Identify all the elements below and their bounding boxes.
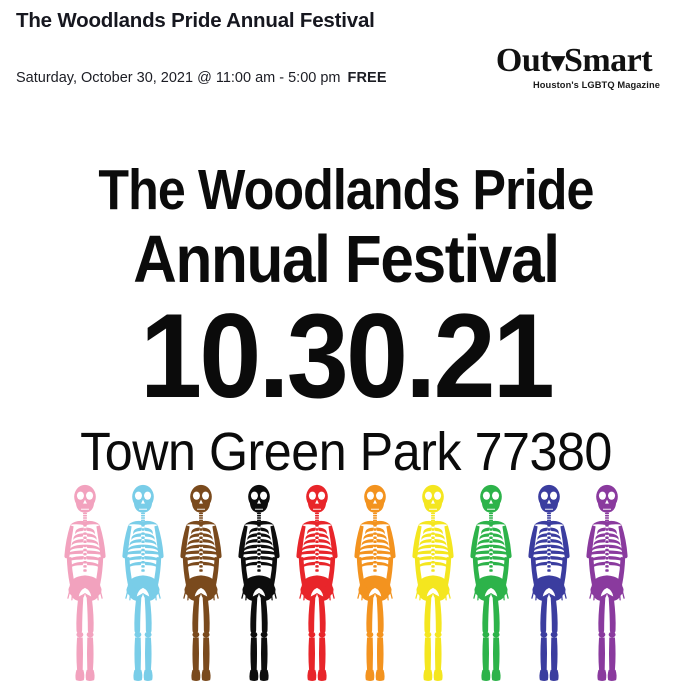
event-header: The Woodlands Pride Annual Festival Satu… xyxy=(0,0,692,100)
skeleton-orange xyxy=(346,482,404,687)
poster-line-date: 10.30.21 xyxy=(24,296,668,416)
outsmart-logo[interactable]: Out▼Smart Houston's LGBTQ Magazine xyxy=(486,44,662,90)
event-listing-page: The Woodlands Pride Annual Festival Satu… xyxy=(0,0,692,696)
skeleton-row xyxy=(0,482,692,696)
skeleton-light-blue xyxy=(114,482,172,687)
skeleton-blue xyxy=(520,482,578,687)
skeleton-green xyxy=(462,482,520,687)
logo-word-smart: Smart xyxy=(564,42,652,79)
event-meta-line: Saturday, October 30, 2021 @ 11:00 am - … xyxy=(16,70,387,86)
event-price-badge: FREE xyxy=(348,70,387,86)
skeleton-pink xyxy=(56,482,114,687)
logo-word-out: Out xyxy=(496,42,551,79)
outsmart-logo-wordmark: Out▼Smart xyxy=(486,44,662,79)
poster-line-title-1: The Woodlands Pride xyxy=(42,162,651,219)
skeleton-black xyxy=(230,482,288,687)
event-datetime: Saturday, October 30, 2021 @ 11:00 am - … xyxy=(16,70,341,86)
page-title: The Woodlands Pride Annual Festival xyxy=(16,9,375,33)
event-poster-image: The Woodlands Pride Annual Festival 10.3… xyxy=(0,100,692,696)
skeleton-red xyxy=(288,482,346,687)
poster-line-title-2: Annual Festival xyxy=(35,226,658,293)
triangle-icon: ▼ xyxy=(550,50,565,74)
skeleton-brown xyxy=(172,482,230,687)
skeleton-purple xyxy=(578,482,636,687)
outsmart-logo-tagline: Houston's LGBTQ Magazine xyxy=(486,80,662,90)
skeleton-yellow xyxy=(404,482,462,687)
poster-line-venue: Town Green Park 77380 xyxy=(24,425,668,479)
